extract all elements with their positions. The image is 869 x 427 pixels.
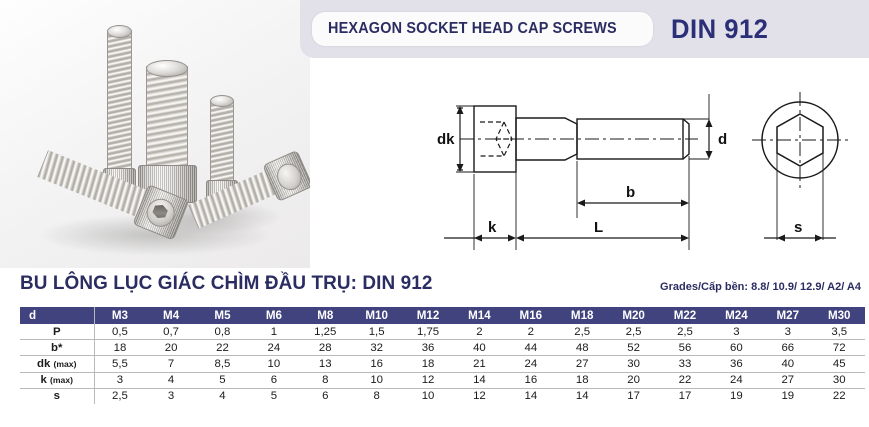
cell: 3 [145,388,196,404]
spec-sheet: HEXAGON SOCKET HEAD CAP SCREWS DIN 912 [0,0,869,427]
cell: 56 [659,340,710,356]
cell: 28 [300,340,351,356]
cell: 5,5 [94,356,145,372]
cell: 18 [402,356,453,372]
cell: 32 [351,340,402,356]
cell: 12 [454,388,505,404]
cell: 2 [505,324,556,340]
dim-label-d: d [718,131,727,148]
cell: 1,25 [300,324,351,340]
cell: 14 [557,388,608,404]
cell: 66 [762,340,813,356]
spec-table-wrap: d M3 M4 M5 M6 M8 M10 M12 M14 M16 M18 M20… [20,307,865,404]
cell: 16 [505,372,556,388]
cell: 3,5 [813,324,865,340]
col-header: M12 [402,307,453,324]
dim-b: b [577,184,689,207]
row-label: b* [20,340,94,356]
cell: 30 [608,356,659,372]
table-body: P 0,5 0,7 0,8 1 1,25 1,5 1,75 2 2 2,5 2,… [20,324,865,404]
col-header: M6 [248,307,299,324]
cell: 3 [762,324,813,340]
cell: 3 [94,372,145,388]
cell: 40 [454,340,505,356]
col-header: M5 [197,307,248,324]
col-header: M30 [813,307,865,324]
cell: 5 [197,372,248,388]
cell: 19 [711,388,762,404]
cell: 8 [351,388,402,404]
table-corner-label: d [20,307,94,324]
cell: 18 [94,340,145,356]
cell: 33 [659,356,710,372]
col-header: M16 [505,307,556,324]
row-label: k (max) [20,372,94,388]
row-label: P [20,324,94,340]
cell: 12 [402,372,453,388]
cell: 20 [608,372,659,388]
table-row: k (max) 3 4 5 6 8 10 12 14 16 18 20 22 2… [20,372,865,388]
cell: 2,5 [608,324,659,340]
cell: 8,5 [197,356,248,372]
cell: 52 [608,340,659,356]
cell: 0,5 [94,324,145,340]
col-header: M8 [300,307,351,324]
cell: 1 [248,324,299,340]
cell: 16 [351,356,402,372]
cell: 27 [762,372,813,388]
cell: 4 [197,388,248,404]
banner-title-pill: HEXAGON SOCKET HEAD CAP SCREWS [312,12,653,46]
row-label: dk (max) [20,356,94,372]
cell: 3 [711,324,762,340]
col-header: M10 [351,307,402,324]
cell: 0,7 [145,324,196,340]
cell: 22 [659,372,710,388]
cell: 17 [659,388,710,404]
cell: 14 [454,372,505,388]
cell: 36 [711,356,762,372]
cell: 24 [505,356,556,372]
cell: 21 [454,356,505,372]
cell: 30 [813,372,865,388]
cell: 45 [813,356,865,372]
cell: 44 [505,340,556,356]
cell: 10 [248,356,299,372]
cell: 27 [557,356,608,372]
technical-drawing: dk d b L [430,78,869,260]
dim-k: k [444,219,516,242]
cell: 48 [557,340,608,356]
cell: 7 [145,356,196,372]
spec-table: d M3 M4 M5 M6 M8 M10 M12 M14 M16 M18 M20… [20,307,865,404]
cell: 24 [711,372,762,388]
dim-label-L: L [594,219,603,236]
cell: 13 [300,356,351,372]
dim-L: L [516,219,689,242]
cell: 19 [762,388,813,404]
cell: 2,5 [659,324,710,340]
title-row: BU LÔNG LỤC GIÁC CHÌM ĐẦU TRỤ: DIN 912 G… [0,270,869,306]
cell: 1,5 [351,324,402,340]
table-header-row: d M3 M4 M5 M6 M8 M10 M12 M14 M16 M18 M20… [20,307,865,324]
col-header: M4 [145,307,196,324]
col-header: M14 [454,307,505,324]
cell: 40 [762,356,813,372]
dim-label-s: s [794,219,802,236]
table-row: P 0,5 0,7 0,8 1 1,25 1,5 1,75 2 2 2,5 2,… [20,324,865,340]
col-header: M24 [711,307,762,324]
cell: 24 [248,340,299,356]
dim-d: d [706,94,728,159]
cell: 22 [197,340,248,356]
cell: 0,8 [197,324,248,340]
cell: 10 [402,388,453,404]
cell: 1,75 [402,324,453,340]
grades-note: Grades/Cấp bền: 8.8/ 10.9/ 12.9/ A2/ A4 [660,281,861,293]
banner-title: HEXAGON SOCKET HEAD CAP SCREWS [328,20,617,38]
cell: 2,5 [94,388,145,404]
cell: 2,5 [557,324,608,340]
table-row: dk (max) 5,5 7 8,5 10 13 16 18 21 24 27 … [20,356,865,372]
cell: 22 [813,388,865,404]
dim-label-k: k [488,219,497,236]
end-view: s [752,92,848,242]
standard-code: DIN 912 [671,14,768,45]
cell: 36 [402,340,453,356]
cell: 6 [248,372,299,388]
cell: 4 [145,372,196,388]
cell: 18 [557,372,608,388]
page-title: BU LÔNG LỤC GIÁC CHÌM ĐẦU TRỤ: DIN 912 [20,272,432,295]
table-head: d M3 M4 M5 M6 M8 M10 M12 M14 M16 M18 M20… [20,307,865,324]
cell: 6 [300,388,351,404]
header-banner: HEXAGON SOCKET HEAD CAP SCREWS DIN 912 [300,0,869,58]
product-photo [0,0,310,268]
table-row: b* 18 20 22 24 28 32 36 40 44 48 52 56 6… [20,340,865,356]
table-row: s 2,5 3 4 5 6 8 10 12 14 14 17 17 19 19 … [20,388,865,404]
cell: 17 [608,388,659,404]
cell: 20 [145,340,196,356]
col-header: M27 [762,307,813,324]
cell: 72 [813,340,865,356]
cell: 10 [351,372,402,388]
col-header: M20 [608,307,659,324]
dim-label-dk: dk [437,131,455,148]
dim-label-b: b [626,184,635,201]
cell: 5 [248,388,299,404]
col-header: M3 [94,307,145,324]
col-header: M22 [659,307,710,324]
row-label: s [20,388,94,404]
cell: 14 [505,388,556,404]
col-header: M18 [557,307,608,324]
cell: 2 [454,324,505,340]
cell: 8 [300,372,351,388]
cell: 60 [711,340,762,356]
